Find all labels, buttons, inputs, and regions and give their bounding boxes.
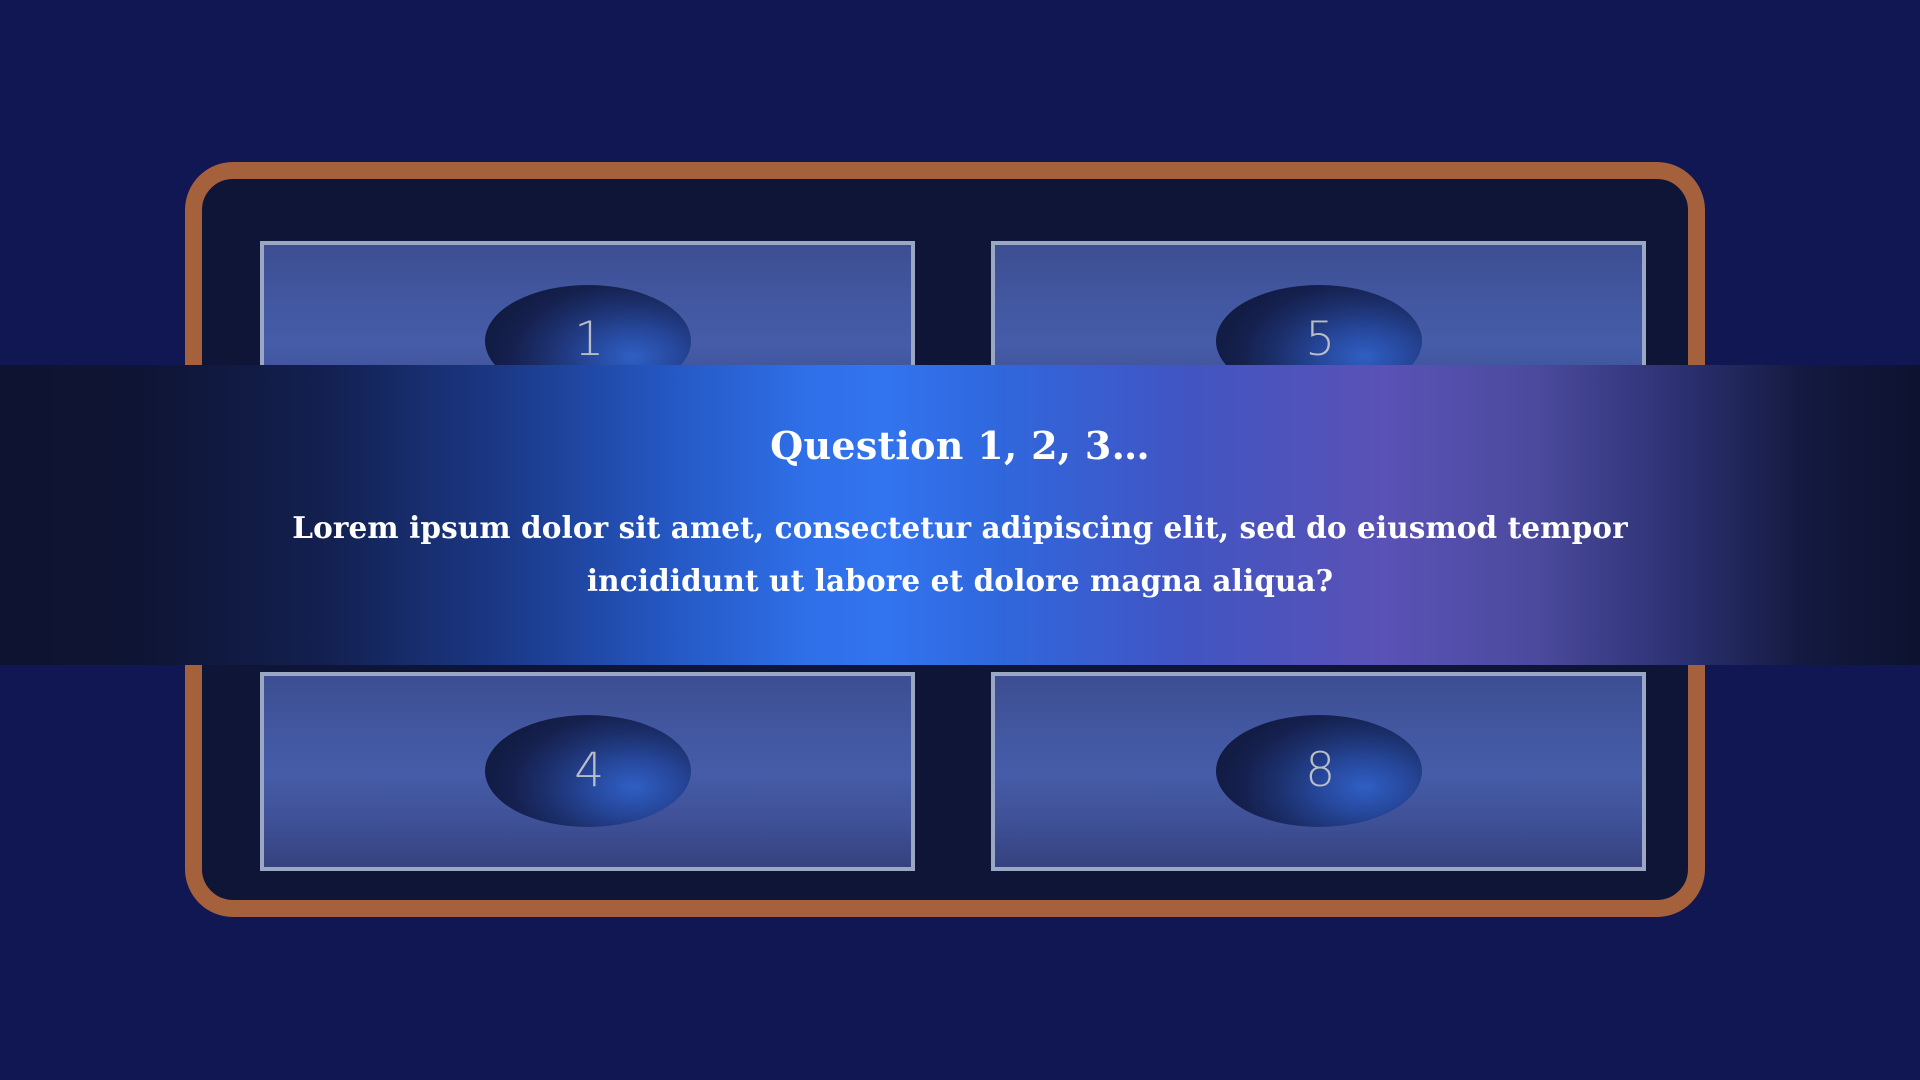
tile-ellipse: 4: [485, 715, 691, 827]
tile-number-label: 4: [574, 747, 604, 794]
tile-ellipse: 8: [1216, 715, 1422, 827]
answer-tile-8[interactable]: 8: [991, 672, 1646, 871]
tile-number-label: 1: [574, 316, 604, 363]
question-overlay-banner: Question 1, 2, 3… Lorem ipsum dolor sit …: [0, 365, 1920, 665]
tile-number-label: 5: [1305, 316, 1335, 363]
question-text: Lorem ipsum dolor sit amet, consectetur …: [210, 502, 1710, 607]
question-title: Question 1, 2, 3…: [770, 423, 1150, 468]
tile-number-label: 8: [1305, 747, 1335, 794]
answer-tile-4[interactable]: 4: [260, 672, 915, 871]
